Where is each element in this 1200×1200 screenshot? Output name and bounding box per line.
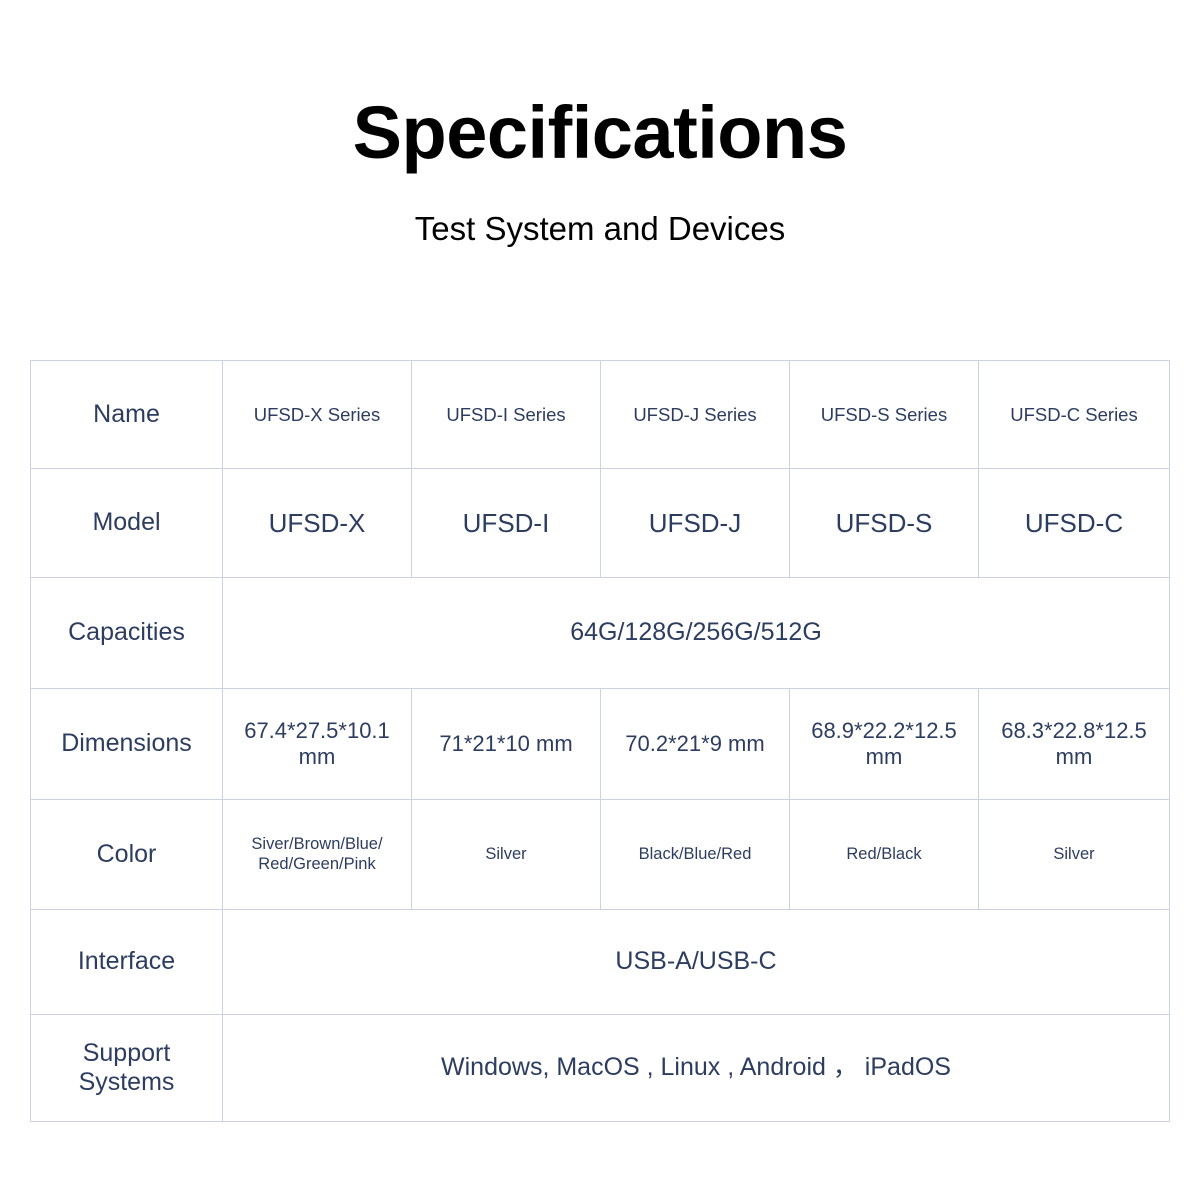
table-row: Interface USB-A/USB-C [31,910,1170,1015]
cell-name-x: UFSD-X Series [223,361,412,469]
row-label-capacities: Capacities [31,578,223,689]
row-label-interface: Interface [31,910,223,1015]
table-row: Model UFSD-X UFSD-I UFSD-J UFSD-S UFSD-C [31,469,1170,578]
cell-capacities-value: 64G/128G/256G/512G [223,578,1170,689]
table-row: Capacities 64G/128G/256G/512G [31,578,1170,689]
cell-support-systems-value: Windows, MacOS , Linux , Android ， iPadO… [223,1015,1170,1122]
row-label-support-line1: Support [83,1039,171,1067]
cell-model-i: UFSD-I [412,469,601,578]
heading-block: Specifications Test System and Devices [0,0,1200,245]
cell-model-c: UFSD-C [979,469,1170,578]
cell-interface-value: USB-A/USB-C [223,910,1170,1015]
cell-color-x: Siver/Brown/Blue/ Red/Green/Pink [223,800,412,910]
row-label-model: Model [31,469,223,578]
row-label-support-line2: Systems [79,1068,175,1096]
specifications-table: Name UFSD-X Series UFSD-I Series UFSD-J … [30,360,1170,1122]
specifications-page: Specifications Test System and Devices N… [0,0,1200,1200]
cell-name-c: UFSD-C Series [979,361,1170,469]
page-subtitle: Test System and Devices [0,170,1200,245]
row-label-color: Color [31,800,223,910]
specifications-table-container: Name UFSD-X Series UFSD-I Series UFSD-J … [30,360,1169,1122]
table-row: Color Siver/Brown/Blue/ Red/Green/Pink S… [31,800,1170,910]
row-label-support-systems: Support Systems [31,1015,223,1122]
row-label-dimensions: Dimensions [31,689,223,800]
cell-dimensions-x: 67.4*27.5*10.1 mm [223,689,412,800]
cell-name-j: UFSD-J Series [601,361,790,469]
cell-dimensions-s: 68.9*22.2*12.5 mm [790,689,979,800]
page-title: Specifications [0,96,1200,170]
cell-name-s: UFSD-S Series [790,361,979,469]
table-row: Support Systems Windows, MacOS , Linux ,… [31,1015,1170,1122]
cell-dimensions-i: 71*21*10 mm [412,689,601,800]
cell-name-i: UFSD-I Series [412,361,601,469]
table-row: Name UFSD-X Series UFSD-I Series UFSD-J … [31,361,1170,469]
row-label-name: Name [31,361,223,469]
cell-dimensions-j: 70.2*21*9 mm [601,689,790,800]
cell-model-s: UFSD-S [790,469,979,578]
cell-model-x: UFSD-X [223,469,412,578]
cell-dimensions-c: 68.3*22.8*12.5 mm [979,689,1170,800]
cell-color-c: Silver [979,800,1170,910]
table-row: Dimensions 67.4*27.5*10.1 mm 71*21*10 mm… [31,689,1170,800]
cell-color-s: Red/Black [790,800,979,910]
cell-color-j: Black/Blue/Red [601,800,790,910]
cell-model-j: UFSD-J [601,469,790,578]
cell-color-i: Silver [412,800,601,910]
